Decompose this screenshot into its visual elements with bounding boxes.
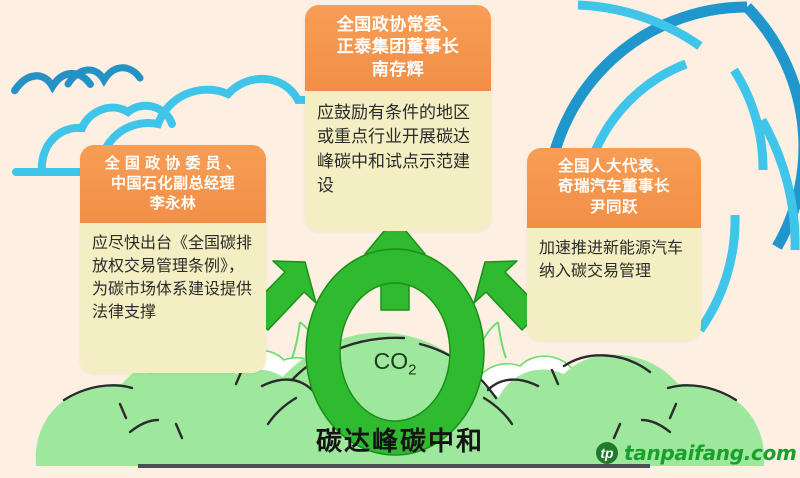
quote-card-right-body: 加速推进新能源汽车纳入碳交易管理 (527, 228, 701, 340)
quote-card-center-header: 全国政协常委、 正泰集团董事长 南存辉 (305, 5, 491, 91)
quote-card-left[interactable]: 全 国 政 协 委 员 、 中国石化副总经理 李永林 应尽快出台《全国碳排放权交… (80, 145, 266, 373)
header-line-1: 全国人大代表、 (533, 157, 695, 177)
header-line-3: 李永林 (86, 194, 260, 214)
co2-subscript: 2 (408, 362, 416, 379)
site-logo[interactable]: tp tanpaifang.com (596, 441, 797, 465)
header-line-2: 奇瑞汽车董事长 (533, 177, 695, 197)
quote-card-center-body: 应鼓励有条件的地区或重点行业开展碳达峰碳中和试点示范建设 (305, 91, 491, 231)
header-line-1: 全 国 政 协 委 员 、 (86, 154, 260, 174)
header-line-1: 全国政协常委、 (311, 14, 485, 36)
header-line-2: 正泰集团董事长 (311, 36, 485, 58)
logo-mark-icon: tp (596, 442, 618, 464)
quote-card-center[interactable]: 全国政协常委、 正泰集团董事长 南存辉 应鼓励有条件的地区或重点行业开展碳达峰碳… (305, 5, 491, 231)
header-line-3: 南存辉 (311, 59, 485, 81)
quote-card-right-header: 全国人大代表、 奇瑞汽车董事长 尹同跃 (527, 148, 701, 228)
quote-card-right[interactable]: 全国人大代表、 奇瑞汽车董事长 尹同跃 加速推进新能源汽车纳入碳交易管理 (527, 148, 701, 340)
co2-text: CO (374, 348, 409, 374)
logo-text: tanpaifang.com (624, 441, 797, 465)
header-line-3: 尹同跃 (533, 198, 695, 218)
header-line-2: 中国石化副总经理 (86, 174, 260, 194)
quote-card-left-header: 全 国 政 协 委 员 、 中国石化副总经理 李永林 (80, 145, 266, 223)
infographic-canvas: CO2 碳达峰碳中和 全国政协常委、 正泰集团董事长 南存辉 应鼓励有条件的地区… (0, 0, 800, 478)
quote-card-left-body: 应尽快出台《全国碳排放权交易管理条例》，为碳市场体系建设提供法律支撑 (80, 223, 266, 373)
co2-label: CO2 (340, 348, 450, 379)
